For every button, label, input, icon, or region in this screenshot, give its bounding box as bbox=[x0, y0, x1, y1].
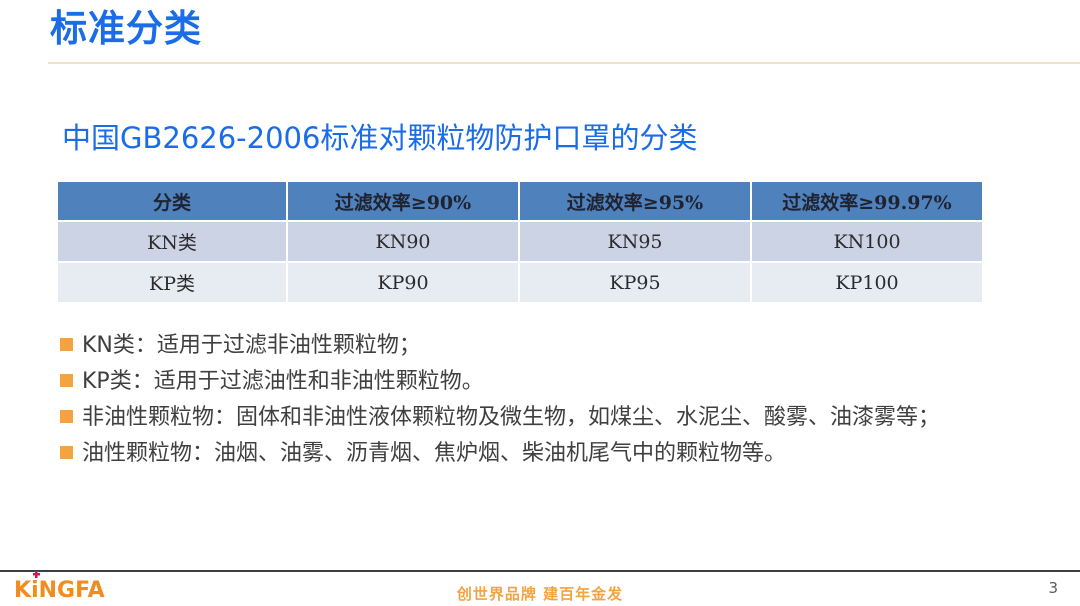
list-item-label: KP类：适用于过滤油性和非油性颗粒物。 bbox=[82, 369, 484, 394]
footer-slogan: 创世界品牌 建百年金发 bbox=[0, 584, 1080, 604]
table-cell: KN100 bbox=[752, 222, 982, 261]
table-header-cell-eff95: 过滤效率≥95% bbox=[520, 182, 750, 220]
list-item-label: 非油性颗粒物：固体和非油性液体颗粒物及微生物，如煤尘、水泥尘、酸雾、油漆雾等； bbox=[82, 405, 940, 430]
table-header-cell-eff90: 过滤效率≥90% bbox=[288, 182, 518, 220]
list-item-label: 油性颗粒物：油烟、油雾、沥青烟、焦炉烟、柴油机尾气中的颗粒物等。 bbox=[82, 441, 786, 466]
classification-table: 分类 过滤效率≥90% 过滤效率≥95% 过滤效率≥99.97% KN类 KN9… bbox=[56, 180, 984, 304]
table-header-row: 分类 过滤效率≥90% 过滤效率≥95% 过滤效率≥99.97% bbox=[58, 182, 982, 220]
footer-divider bbox=[0, 570, 1080, 572]
list-item: KP类：适用于过滤油性和非油性颗粒物。 bbox=[60, 366, 990, 398]
table-row: KN类 KN90 KN95 KN100 bbox=[58, 222, 982, 261]
table-cell: KP95 bbox=[520, 263, 750, 302]
table-cell: KN类 bbox=[58, 222, 286, 261]
list-item: 油性颗粒物：油烟、油雾、沥青烟、焦炉烟、柴油机尾气中的颗粒物等。 bbox=[60, 438, 990, 470]
table-header-cell-eff9997: 过滤效率≥99.97% bbox=[752, 182, 982, 220]
list-item: 非油性颗粒物：固体和非油性液体颗粒物及微生物，如煤尘、水泥尘、酸雾、油漆雾等； bbox=[60, 402, 990, 434]
square-bullet-icon bbox=[60, 410, 73, 423]
section-subtitle: 中国GB2626-2006标准对颗粒物防护口罩的分类 bbox=[62, 118, 697, 158]
square-bullet-icon bbox=[60, 338, 73, 351]
table-cell: KN90 bbox=[288, 222, 518, 261]
table-cell: KN95 bbox=[520, 222, 750, 261]
table-cell: KP90 bbox=[288, 263, 518, 302]
table-cell: KP类 bbox=[58, 263, 286, 302]
page-number: 3 bbox=[1048, 578, 1058, 598]
square-bullet-icon bbox=[60, 446, 73, 459]
list-item-label: KN类：适用于过滤非油性颗粒物； bbox=[82, 333, 421, 358]
table-cell: KP100 bbox=[752, 263, 982, 302]
table-row: KP类 KP90 KP95 KP100 bbox=[58, 263, 982, 302]
page-title: 标准分类 bbox=[50, 6, 202, 52]
bullet-list: KN类：适用于过滤非油性颗粒物； KP类：适用于过滤油性和非油性颗粒物。 非油性… bbox=[60, 330, 990, 474]
table-header-cell-category: 分类 bbox=[58, 182, 286, 220]
square-bullet-icon bbox=[60, 374, 73, 387]
background-watermark bbox=[860, 536, 1050, 572]
list-item: KN类：适用于过滤非油性颗粒物； bbox=[60, 330, 990, 362]
title-divider bbox=[48, 62, 1080, 64]
